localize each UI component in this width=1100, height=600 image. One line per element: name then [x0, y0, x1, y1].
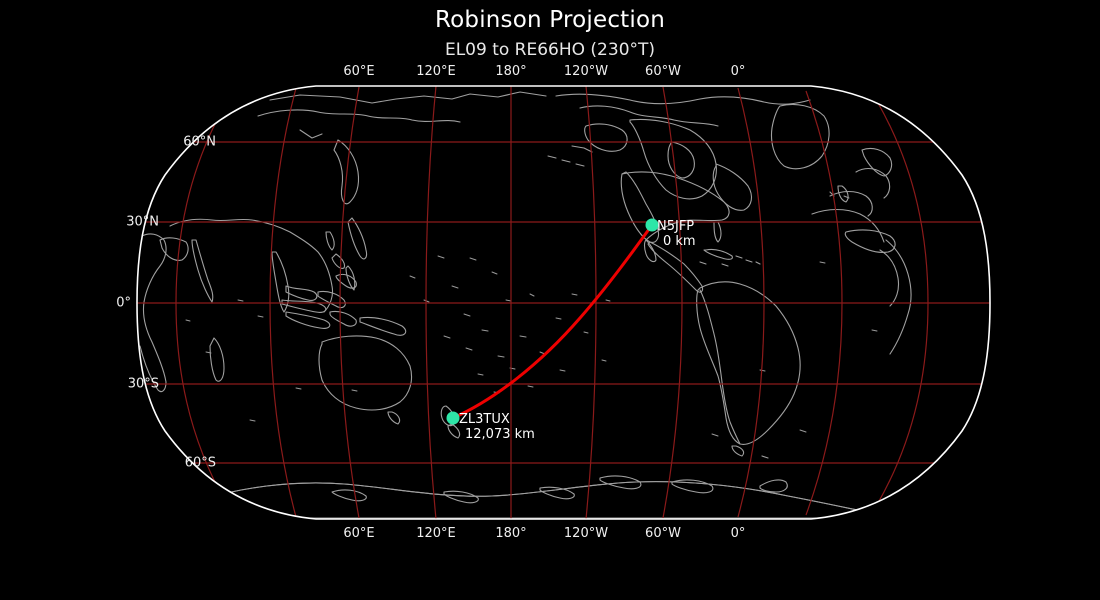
lon-tick-top-3: 120°W — [564, 64, 608, 79]
station-distance: 0 km — [657, 234, 696, 249]
map-face — [137, 86, 990, 519]
lon-tick-top-5: 0° — [731, 64, 746, 79]
lon-tick-bottom-3: 120°W — [564, 526, 608, 541]
lat-tick-4: 60°S — [185, 456, 216, 471]
lon-tick-top-2: 180° — [495, 64, 526, 79]
station-distance: 12,073 km — [459, 427, 535, 442]
lon-tick-bottom-0: 60°E — [343, 526, 374, 541]
lon-tick-top-1: 120°E — [416, 64, 456, 79]
station-label-n5jfp: N5JFP0 km — [657, 219, 696, 249]
lat-tick-1: 30°N — [126, 215, 159, 230]
lon-tick-top-4: 60°W — [645, 64, 681, 79]
lon-tick-bottom-2: 180° — [495, 526, 526, 541]
station-callsign: ZL3TUX — [459, 412, 535, 427]
lat-tick-3: 30°S — [128, 377, 159, 392]
robinson-projection-figure: Robinson Projection EL09 to RE66HO (230°… — [0, 0, 1100, 600]
lon-tick-bottom-4: 60°W — [645, 526, 681, 541]
lon-tick-bottom-5: 0° — [731, 526, 746, 541]
station-callsign: N5JFP — [657, 219, 696, 234]
lon-tick-top-0: 60°E — [343, 64, 374, 79]
station-marker-zl3tux[interactable] — [447, 412, 460, 425]
station-label-zl3tux: ZL3TUX12,073 km — [459, 412, 535, 442]
world-map — [0, 0, 1100, 600]
lat-tick-2: 0° — [116, 296, 131, 311]
lat-tick-0: 60°N — [183, 135, 216, 150]
lon-tick-bottom-1: 120°E — [416, 526, 456, 541]
